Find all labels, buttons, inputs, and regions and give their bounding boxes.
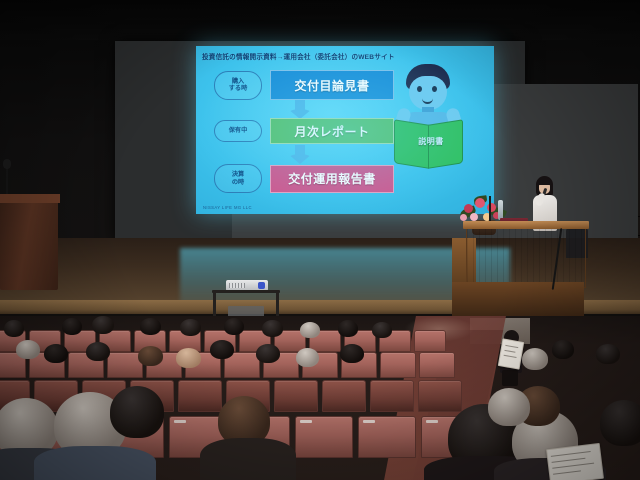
- water-bottle: [498, 200, 503, 220]
- audience-head: [256, 344, 280, 363]
- slide-row-holding: 保有中 月次レポート: [214, 118, 394, 144]
- audience-head: [92, 316, 114, 334]
- seat: [322, 380, 366, 412]
- stage-label-line-1: 購入: [232, 78, 244, 85]
- stage-label-line-1: 保有中: [229, 127, 248, 134]
- slide-logo: NISSAY LIFE MG LLC: [203, 205, 252, 210]
- stage-label-purchase: 購入 する時: [214, 71, 262, 100]
- audience-head: [180, 319, 201, 336]
- book-label: 説明書: [414, 136, 448, 147]
- lectern-base: [452, 282, 584, 316]
- eye-right: [432, 86, 437, 92]
- stage-label-line-1: 決算: [232, 171, 244, 178]
- seat: [380, 352, 416, 378]
- audience-shoulders: [200, 438, 296, 480]
- audience-head-foreground: [110, 386, 164, 438]
- eye-left: [417, 86, 422, 92]
- audience-head: [138, 346, 163, 366]
- face-shape: [409, 76, 447, 110]
- stage-label-settlement: 決算 の時: [214, 164, 262, 193]
- cart-shelf-top: [212, 290, 280, 293]
- audience-head: [224, 318, 244, 335]
- audience-head: [296, 348, 319, 367]
- audience-head: [300, 322, 320, 338]
- audience-head: [372, 322, 392, 338]
- slide-row-purchase: 購入 する時 交付目論見書: [214, 70, 394, 100]
- projector-vent: [229, 283, 245, 288]
- document-box-monthly-report: 月次レポート: [270, 118, 394, 144]
- slide-row-settlement: 決算 の時 交付運用報告書: [214, 164, 394, 193]
- audience-head: [262, 320, 283, 337]
- audience-head: [44, 344, 68, 363]
- lectern-left: [0, 198, 58, 290]
- audience-head: [340, 344, 364, 363]
- audience-head: [86, 342, 110, 361]
- audience-head: [140, 318, 161, 335]
- boy-reading-icon: 説明書: [392, 64, 464, 174]
- lectern-right: [466, 226, 586, 288]
- seat: [178, 380, 222, 412]
- seat: [370, 380, 414, 412]
- audience-head: [552, 340, 574, 359]
- audience-head: [16, 340, 40, 359]
- audience-head: [210, 340, 234, 359]
- stage-label-line-2: の時: [232, 179, 244, 186]
- stage-label-holding: 保有中: [214, 120, 262, 142]
- seat: [419, 352, 455, 378]
- legs: [502, 370, 518, 386]
- audience-head: [522, 348, 548, 370]
- seat: [358, 416, 416, 458]
- audience-head: [600, 400, 640, 446]
- lectern-microphone: [489, 196, 491, 222]
- seat: [414, 330, 446, 352]
- audience-head: [4, 320, 24, 337]
- projected-slide: 投資信託の情報開示資料→運用会社（委託会社）のWEBサイト 購入 する時 交付目…: [196, 46, 494, 214]
- audience-head: [338, 320, 358, 337]
- audience-head: [488, 388, 530, 426]
- document-box-prospectus: 交付目論見書: [270, 70, 394, 100]
- seat: [418, 380, 462, 412]
- seat: [274, 380, 318, 412]
- presenter-hair-front: [537, 178, 552, 185]
- audience-head: [62, 318, 82, 335]
- slide-title: 投資信託の情報開示資料→運用会社（委託会社）のWEBサイト: [202, 51, 488, 61]
- seat: [295, 416, 353, 458]
- handout-paper[interactable]: [546, 443, 604, 480]
- auditorium-scene: 投資信託の情報開示資料→運用会社（委託会社）のWEBサイト 購入 する時 交付目…: [0, 0, 640, 480]
- stage-label-line-2: する時: [229, 85, 248, 92]
- audience-shoulders: [34, 446, 156, 480]
- audience-head: [596, 344, 620, 364]
- audience-head: [176, 348, 201, 368]
- document-box-management-report: 交付運用報告書: [270, 165, 394, 193]
- projector-lens-icon: [258, 282, 265, 289]
- open-book-icon: 説明書: [394, 122, 462, 164]
